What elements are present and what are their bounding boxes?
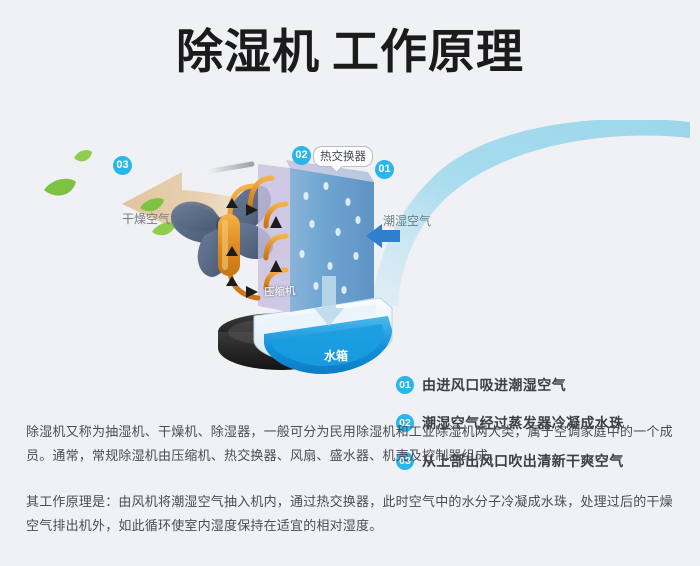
description-text-2: 其工作原理是：由风机将潮湿空气抽入机内，通过热交换器，此时空气中的水分子冷凝成水… [26,490,676,538]
label-humid-air: 潮湿空气 [383,212,431,229]
label-water-tank: 水箱 [324,347,348,364]
badge-02: 02 [292,146,311,165]
label-heat-exchanger: 热交换器 [313,146,373,167]
label-compressor: 压缩机 [264,283,296,300]
description-paragraph-1: 除湿机又称为抽湿机、干燥机、除湿器，一般可分为民用除湿机和工业除湿机两大类，属于… [26,420,676,468]
dehumidifier-diagram: 03 02 01 干燥空气 潮湿空气 热交换器 压缩机 水箱 01 由进风口吸进… [0,120,700,400]
title-part-1: 除湿机 [176,25,320,78]
badge-03: 03 [113,156,132,175]
list-item: 01 由进风口吸进潮湿空气 [396,375,686,395]
step-text: 由进风口吸进潮湿空气 [422,375,566,395]
badge-01: 01 [375,160,394,179]
description-text-1: 除湿机又称为抽湿机、干燥机、除湿器，一般可分为民用除湿机和工业除湿机两大类，属于… [26,420,676,468]
label-dry-air: 干燥空气 [122,210,170,227]
description-paragraph-2: 其工作原理是：由风机将潮湿空气抽入机内，通过热交换器，此时空气中的水分子冷凝成水… [26,490,676,538]
step-number: 01 [396,376,414,394]
page-title: 除湿机工作原理 [0,28,700,75]
title-part-2: 工作原理 [332,25,524,78]
